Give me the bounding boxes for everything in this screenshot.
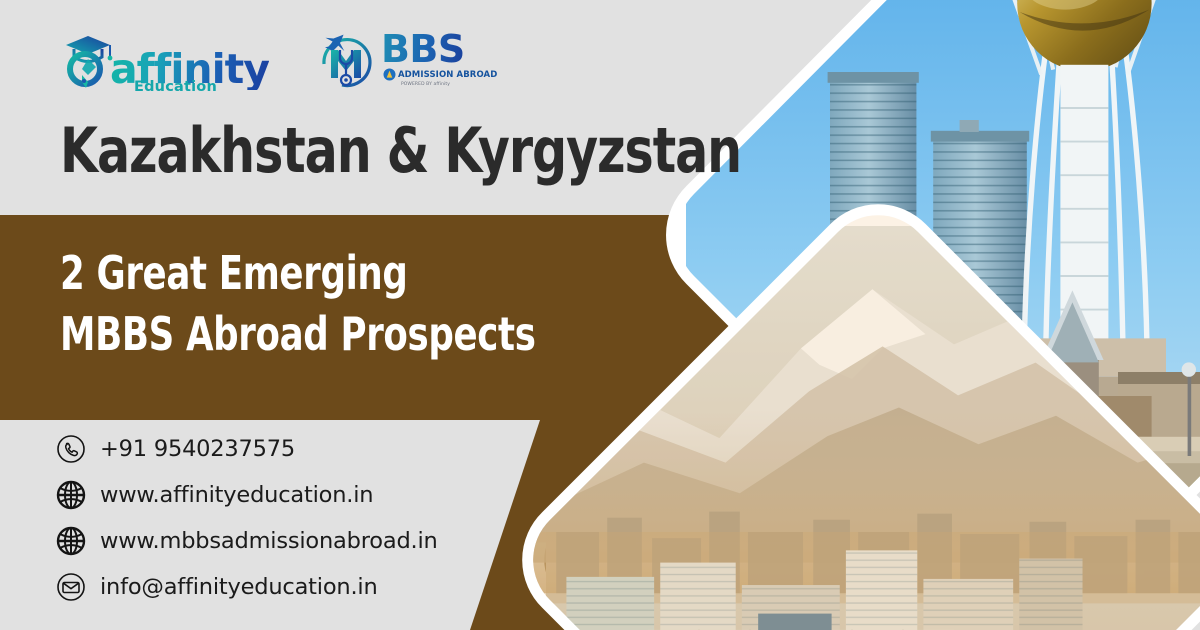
bbs-wordmark: BBS [381, 31, 465, 67]
logo-bar: affinity Education [60, 26, 497, 92]
bbs-tagline-sub: POWERED BY affinity [401, 82, 450, 87]
contact-list: +91 9540237575 www.affinityeducation.in [56, 432, 438, 604]
subtitle-line-1: 2 Great Emerging [60, 243, 536, 304]
contact-email[interactable]: info@affinityeducation.in [56, 570, 438, 604]
graduation-cap-icon [60, 32, 116, 90]
contact-website-mbbs-label: www.mbbsadmissionabroad.in [100, 530, 438, 553]
globe-icon [56, 526, 86, 556]
contact-phone[interactable]: +91 9540237575 [56, 432, 438, 466]
affinity-education-logo[interactable]: affinity Education [60, 28, 269, 90]
contact-website-mbbs[interactable]: www.mbbsadmissionabroad.in [56, 524, 438, 558]
subtitle-line-2: MBBS Abroad Prospects [60, 304, 536, 365]
bbs-tagline: ADMISSION ABROAD [398, 70, 497, 80]
medical-stethoscope-m-icon [315, 28, 377, 90]
envelope-icon [56, 572, 86, 602]
page-title: Kazakhstan & Kyrgyzstan [60, 120, 741, 182]
phone-icon [56, 434, 86, 464]
subtitle: 2 Great Emerging MBBS Abroad Prospects [60, 243, 536, 365]
bbs-logo[interactable]: BBS ADMISSION ABROAD POWERED BY affinity [315, 26, 497, 92]
bbs-seal-icon [383, 68, 396, 81]
affinity-tagline: Education [134, 79, 217, 95]
contact-phone-label: +91 9540237575 [100, 438, 295, 461]
contact-website-affinity[interactable]: www.affinityeducation.in [56, 478, 438, 512]
poster-canvas: affinity Education [0, 0, 1200, 630]
contact-website-affinity-label: www.affinityeducation.in [100, 484, 373, 507]
globe-icon [56, 480, 86, 510]
bbs-tagline-row: ADMISSION ABROAD [383, 68, 497, 81]
contact-email-label: info@affinityeducation.in [100, 576, 378, 599]
